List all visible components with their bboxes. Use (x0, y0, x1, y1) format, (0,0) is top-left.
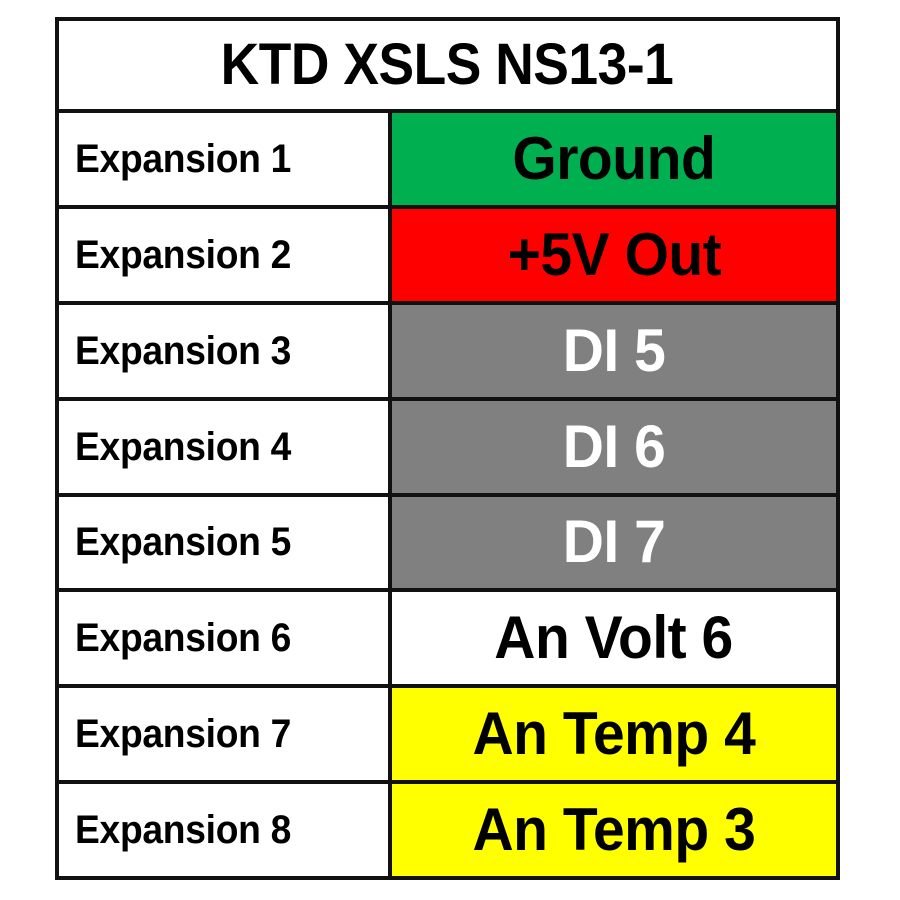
table-title: KTD XSLS NS13-1 (221, 36, 674, 94)
pin-function-label: An Volt 6 (495, 608, 734, 668)
table-row: Expansion 3DI 5 (59, 305, 836, 401)
pin-function-label: +5V Out (507, 225, 721, 285)
table-header-row: KTD XSLS NS13-1 (59, 21, 836, 113)
pin-function-label: DI 5 (563, 321, 666, 381)
pin-function-label: DI 7 (563, 512, 666, 572)
pinout-row-list: Expansion 1GroundExpansion 2+5V OutExpan… (59, 113, 836, 876)
pin-function-label: An Temp 3 (473, 800, 756, 860)
pin-name-label: Expansion 2 (75, 235, 291, 275)
pin-name-cell: Expansion 6 (59, 592, 392, 684)
pin-name-label: Expansion 7 (75, 714, 291, 754)
pin-function-label: Ground (513, 129, 716, 189)
pin-function-cell: DI 5 (392, 305, 836, 397)
pin-function-cell: DI 6 (392, 401, 836, 493)
table-row: Expansion 7An Temp 4 (59, 688, 836, 784)
table-row: Expansion 8An Temp 3 (59, 784, 836, 876)
pinout-table: KTD XSLS NS13-1 Expansion 1GroundExpansi… (55, 17, 840, 880)
pin-function-cell: An Volt 6 (392, 592, 836, 684)
pin-name-label: Expansion 4 (75, 427, 291, 467)
table-row: Expansion 2+5V Out (59, 209, 836, 305)
table-row: Expansion 6An Volt 6 (59, 592, 836, 688)
pin-name-cell: Expansion 3 (59, 305, 392, 397)
pin-function-cell: DI 7 (392, 497, 836, 589)
pin-name-cell: Expansion 1 (59, 113, 392, 205)
pin-function-cell: Ground (392, 113, 836, 205)
pin-function-label: DI 6 (563, 417, 666, 477)
pin-function-cell: +5V Out (392, 209, 836, 301)
table-row: Expansion 1Ground (59, 113, 836, 209)
pin-name-label: Expansion 3 (75, 331, 291, 371)
pin-function-label: An Temp 4 (473, 704, 756, 764)
pin-name-label: Expansion 6 (75, 618, 291, 658)
pin-function-cell: An Temp 3 (392, 784, 836, 876)
table-row: Expansion 5DI 7 (59, 497, 836, 593)
pin-name-cell: Expansion 2 (59, 209, 392, 301)
table-row: Expansion 4DI 6 (59, 401, 836, 497)
pin-name-cell: Expansion 4 (59, 401, 392, 493)
pin-function-cell: An Temp 4 (392, 688, 836, 780)
pin-name-label: Expansion 1 (75, 139, 291, 179)
pin-name-cell: Expansion 7 (59, 688, 392, 780)
pin-name-cell: Expansion 8 (59, 784, 392, 876)
pin-name-label: Expansion 5 (75, 522, 291, 562)
pin-name-label: Expansion 8 (75, 810, 291, 850)
pin-name-cell: Expansion 5 (59, 497, 392, 589)
